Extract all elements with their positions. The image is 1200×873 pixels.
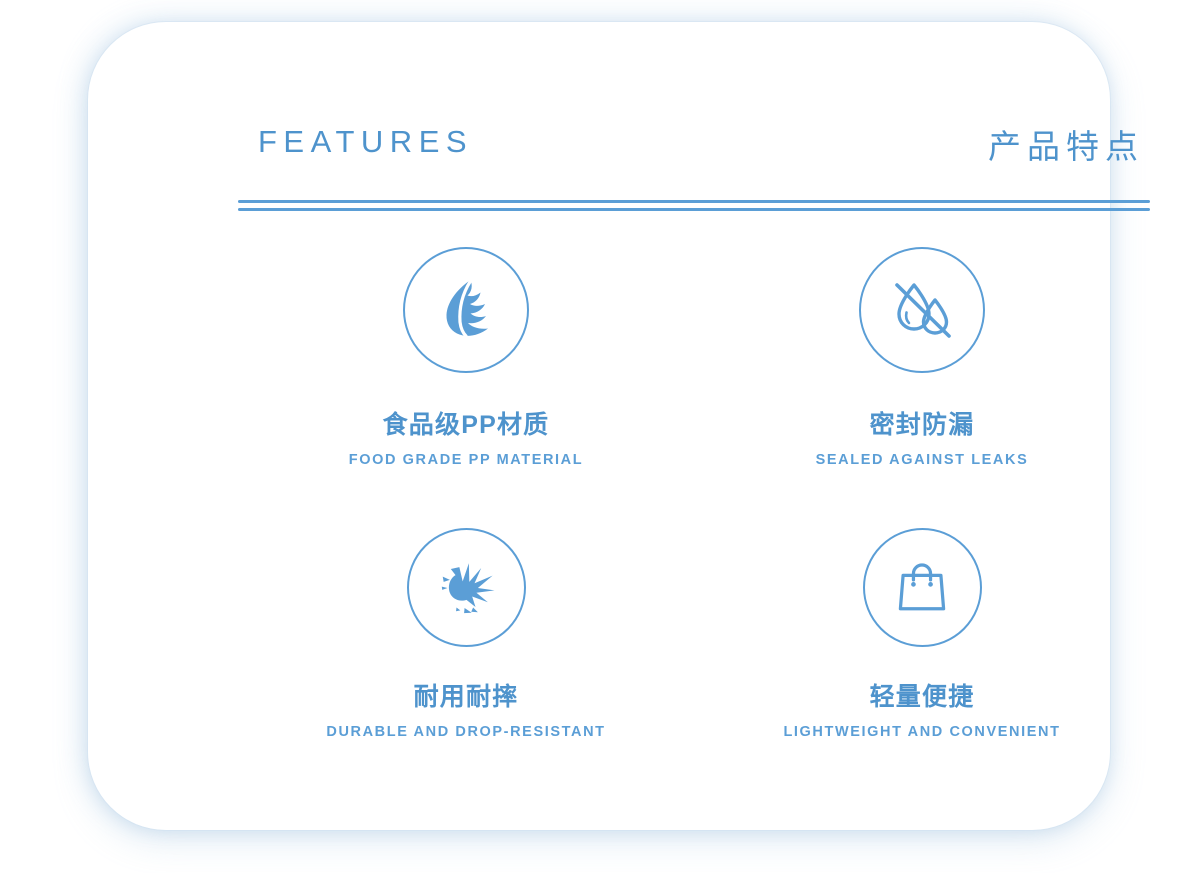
page-title-en: FEATURES bbox=[258, 124, 473, 160]
icon-circle bbox=[403, 247, 529, 373]
card-header: FEATURES 产品特点 bbox=[238, 122, 1150, 184]
icon-circle bbox=[859, 247, 985, 373]
no-water-leak-icon bbox=[882, 270, 962, 350]
feature-label-en: SEALED AGAINST LEAKS bbox=[816, 452, 1029, 468]
page-root: FEATURES 产品特点 食品级PP材质 FOOD GRADE PP MATE… bbox=[0, 0, 1200, 873]
header-divider-bottom bbox=[238, 208, 1150, 211]
feature-label-cn: 耐用耐摔 bbox=[414, 677, 519, 713]
feature-item-durable-drop-resistant: 耐用耐摔 DURABLE AND DROP-RESISTANT bbox=[238, 517, 694, 787]
feature-item-food-grade-pp: 食品级PP材质 FOOD GRADE PP MATERIAL bbox=[238, 247, 694, 517]
icon-circle bbox=[863, 528, 982, 647]
feature-label-en: FOOD GRADE PP MATERIAL bbox=[349, 452, 583, 468]
feature-item-sealed-against-leaks: 密封防漏 SEALED AGAINST LEAKS bbox=[694, 247, 1150, 517]
header-divider-top bbox=[238, 200, 1150, 203]
shopping-bag-icon bbox=[886, 552, 958, 624]
feature-label-en: LIGHTWEIGHT AND CONVENIENT bbox=[783, 724, 1060, 740]
impact-burst-icon bbox=[428, 550, 504, 626]
feature-label-cn: 轻量便捷 bbox=[870, 677, 975, 713]
features-card: FEATURES 产品特点 食品级PP材质 FOOD GRADE PP MATE… bbox=[88, 22, 1110, 830]
feature-label-cn: 密封防漏 bbox=[870, 405, 975, 441]
icon-circle bbox=[407, 528, 526, 647]
leaf-icon bbox=[426, 270, 506, 350]
feature-label-en: DURABLE AND DROP-RESISTANT bbox=[326, 724, 605, 740]
feature-item-lightweight-convenient: 轻量便捷 LIGHTWEIGHT AND CONVENIENT bbox=[694, 517, 1150, 787]
features-grid: 食品级PP材质 FOOD GRADE PP MATERIAL bbox=[238, 247, 1150, 787]
page-title-cn: 产品特点 bbox=[988, 120, 1144, 168]
feature-label-cn: 食品级PP材质 bbox=[383, 405, 550, 441]
